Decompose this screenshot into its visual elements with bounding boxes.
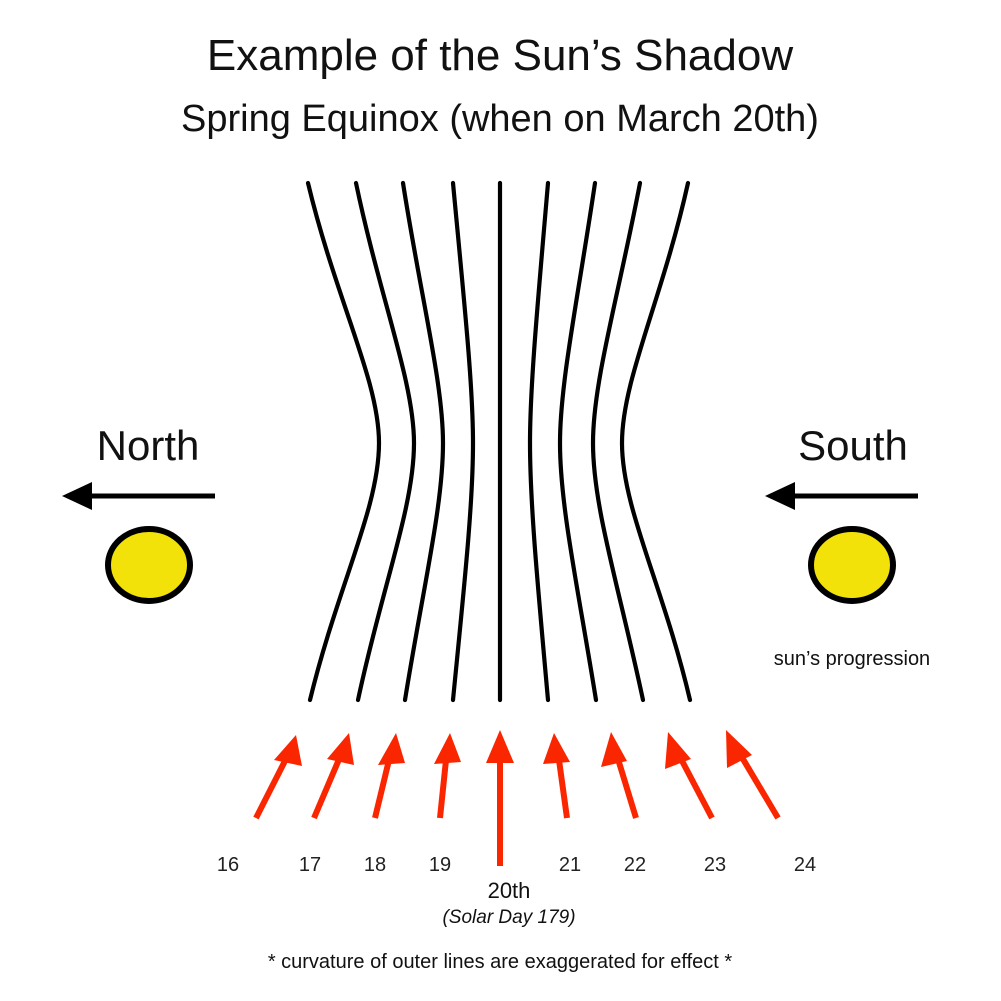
page-subtitle: Spring Equinox (when on March 20th) — [181, 98, 819, 140]
day-label-22: 22 — [624, 854, 646, 876]
day-label-19: 19 — [429, 854, 451, 876]
north-label: North — [97, 422, 200, 469]
day-label-18: 18 — [364, 854, 386, 876]
day-label-17: 17 — [299, 854, 321, 876]
page-title: Example of the Sun’s Shadow — [207, 31, 793, 80]
day-label-21: 21 — [559, 854, 581, 876]
center-solar-day-label: (Solar Day 179) — [442, 907, 575, 928]
sun-icon-south — [811, 529, 893, 601]
sun-icon-north — [108, 529, 190, 601]
day-label-16: 16 — [217, 854, 239, 876]
south-label: South — [798, 422, 908, 469]
center-day-label: 20th — [488, 878, 531, 903]
diagram-canvas: Example of the Sun’s Shadow Spring Equin… — [0, 0, 1001, 1001]
suns-progression-label: sun’s progression — [774, 648, 930, 670]
sun-shadow-diagram: Example of the Sun’s Shadow Spring Equin… — [0, 0, 1001, 1001]
day-label-24: 24 — [794, 854, 816, 876]
footnote-label: * curvature of outer lines are exaggerat… — [268, 951, 733, 973]
day-label-23: 23 — [704, 854, 726, 876]
